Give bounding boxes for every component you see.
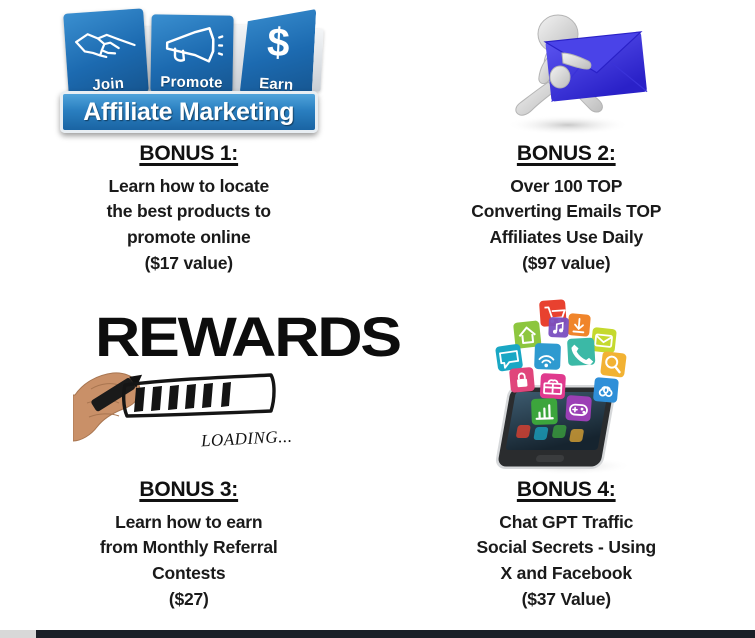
bonus-3-line-3: Contests	[100, 563, 278, 584]
bonus-2-line-2: Converting Emails TOP	[471, 201, 661, 222]
rewards-loading-artwork: REWARDS	[73, 303, 305, 473]
logo-tile-join: Join	[63, 8, 149, 97]
bonus-grid: Join	[0, 0, 755, 638]
handshake-icon	[63, 8, 147, 79]
bonus-2-value: ($97 value)	[471, 253, 661, 274]
bonus-3-title: BONUS 3:	[100, 478, 278, 503]
bonus-3-line-2: from Monthly Referral	[100, 537, 278, 558]
banner-text: Affiliate Marketing	[83, 98, 294, 127]
bonus-card-4: BONUS 4: Chat GPT Traffic Social Secrets…	[378, 298, 755, 638]
logo-tile-promote: Promote	[150, 14, 233, 93]
cropped-bottom-bar	[0, 630, 755, 638]
bonus-4-artwork	[378, 298, 755, 478]
bonus-1-artwork: Join	[0, 0, 378, 142]
bonus-3-value: ($27)	[100, 589, 278, 610]
logo-tile-earn: $ Earn	[239, 5, 316, 97]
bonus-1-title: BONUS 1:	[107, 142, 271, 167]
bonus-1-line-1: Learn how to locate	[107, 176, 271, 197]
bottom-bar-dark-segment	[36, 630, 755, 638]
bonus-card-1: Join	[0, 0, 378, 298]
bottom-bar-light-segment	[0, 630, 36, 638]
smartphone-with-app-icons-icon	[479, 299, 654, 477]
bonus-4-line-2: Social Secrets - Using	[477, 537, 656, 558]
bonus-2-text: BONUS 2: Over 100 TOP Converting Emails …	[471, 142, 661, 273]
bonus-2-line-3: Affiliates Use Daily	[471, 227, 661, 248]
megaphone-icon	[150, 14, 233, 75]
bonus-3-text: BONUS 3: Learn how to earn from Monthly …	[100, 478, 278, 609]
bonus-4-text: BONUS 4: Chat GPT Traffic Social Secrets…	[477, 478, 656, 609]
bonus-4-value: ($37 Value)	[477, 589, 656, 610]
bonus-3-artwork: REWARDS	[0, 298, 378, 478]
bonus-1-line-2: the best products to	[107, 201, 271, 222]
bonus-2-title: BONUS 2:	[471, 142, 661, 167]
affiliate-marketing-logo: Join	[58, 5, 320, 137]
bonus-card-3: REWARDS	[0, 298, 378, 638]
bonus-3-line-1: Learn how to earn	[100, 512, 278, 533]
bonus-4-line-3: X and Facebook	[477, 563, 656, 584]
affiliate-marketing-banner: Affiliate Marketing	[60, 91, 318, 133]
bonus-4-title: BONUS 4:	[477, 478, 656, 503]
bonus-1-text: BONUS 1: Learn how to locate the best pr…	[107, 142, 271, 273]
running-person-with-envelope-icon	[476, 3, 656, 139]
bonus-1-value: ($17 value)	[107, 253, 271, 274]
logo-tiles: Join	[58, 5, 320, 101]
dollar-sign-icon: $	[240, 5, 316, 79]
svg-text:$: $	[266, 20, 291, 65]
bonus-4-line-1: Chat GPT Traffic	[477, 512, 656, 533]
bonus-2-line-1: Over 100 TOP	[471, 176, 661, 197]
bonus-2-artwork	[378, 0, 755, 142]
bonus-card-2: BONUS 2: Over 100 TOP Converting Emails …	[378, 0, 755, 298]
bonus-1-line-3: promote online	[107, 227, 271, 248]
